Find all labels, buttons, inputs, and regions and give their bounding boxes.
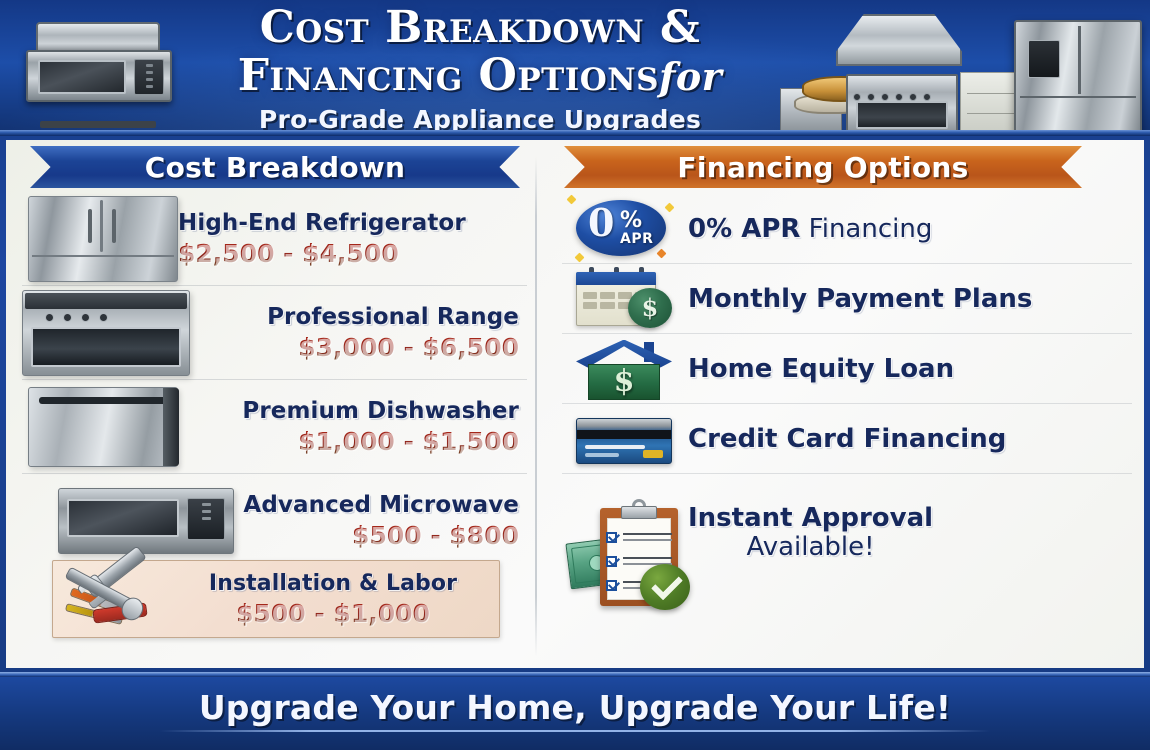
- refrigerator-icon: [22, 196, 178, 282]
- title-line-1: Cost Breakdown &: [170, 6, 790, 50]
- footer-banner: Upgrade Your Home, Upgrade Your Life!: [0, 672, 1150, 750]
- cost-text-microwave: Advanced Microwave $500 - $800: [234, 492, 527, 550]
- financing-label-light: Financing: [800, 214, 932, 244]
- content-area: Cost Breakdown High-End Refrigerator $2,…: [6, 140, 1144, 668]
- cost-text-range: Professional Range $3,000 - $6,500: [190, 304, 527, 362]
- water-dispenser: [1028, 40, 1060, 78]
- tools-wrench-screwdriver-icon: [53, 562, 181, 636]
- installation-label: Installation & Labor: [181, 571, 485, 596]
- financing-row-instant-approval: Instant Approval Available!: [562, 474, 1132, 592]
- header-bottom-rule: [0, 130, 1150, 136]
- microwave-icon: [22, 488, 234, 554]
- cost-row-refrigerator: High-End Refrigerator $2,500 - $4,500: [22, 192, 527, 286]
- calendar-dollar-symbol: $: [628, 288, 672, 328]
- instant-approval-line-1: Instant Approval: [688, 503, 933, 533]
- cost-item-name: High-End Refrigerator: [178, 210, 519, 236]
- instant-approval-line-2: Available!: [688, 533, 933, 562]
- oven-door: [856, 101, 948, 129]
- cost-row-dishwasher: Premium Dishwasher $1,000 - $1,500: [22, 380, 527, 474]
- apr-badge-apr: APR: [620, 231, 653, 247]
- range-knobs: [853, 86, 951, 96]
- financing-option-list: 0 % APR 0% APR Financing $ Monthly P: [562, 194, 1132, 592]
- french-door-refrigerator: [1014, 20, 1142, 136]
- financing-row-home-equity: $ Home Equity Loan: [562, 334, 1132, 404]
- home-dollar-icon: $: [562, 338, 688, 400]
- financing-label-credit-card: Credit Card Financing: [688, 424, 1006, 454]
- financing-label-apr: 0% APR Financing: [688, 214, 932, 244]
- cost-item-name: Premium Dishwasher: [178, 398, 519, 424]
- home-dollar-symbol: $: [589, 365, 659, 399]
- financing-label-instant-approval: Instant Approval Available!: [688, 504, 933, 562]
- dishwasher-icon: [22, 387, 178, 467]
- apr-badge-percent: %: [620, 208, 642, 233]
- microwave-base: [40, 121, 156, 128]
- cost-breakdown-banner: Cost Breakdown: [30, 146, 520, 188]
- range-hood: [836, 14, 962, 66]
- cost-item-price: $500 - $800: [234, 521, 519, 550]
- installation-price: $500 - $1,000: [181, 599, 485, 628]
- apr-badge-zero: 0: [588, 204, 614, 242]
- financing-label-monthly: Monthly Payment Plans: [688, 284, 1032, 314]
- cost-banner-label: Cost Breakdown: [145, 151, 406, 184]
- cost-item-price: $3,000 - $6,500: [190, 333, 519, 362]
- financing-label-bold: 0% APR: [688, 214, 800, 244]
- microwave-body: [26, 50, 172, 102]
- cost-item-price: $1,000 - $1,500: [178, 427, 519, 456]
- clipboard-checklist-cash-approved-icon: [562, 502, 688, 564]
- cost-row-range: Professional Range $3,000 - $6,500: [22, 286, 527, 380]
- title-line-2-italic: for: [659, 54, 722, 99]
- calendar-dollar-icon: $: [562, 268, 688, 330]
- microwave-control-panel: [134, 59, 164, 95]
- footer-underline: [160, 730, 990, 732]
- cost-text-refrigerator: High-End Refrigerator $2,500 - $4,500: [178, 210, 527, 268]
- credit-card-icon: [562, 408, 688, 470]
- cost-item-name: Advanced Microwave: [234, 492, 519, 518]
- zero-percent-apr-badge-icon: 0 % APR: [562, 198, 688, 260]
- footer-top-rule: [0, 672, 1150, 677]
- financing-row-apr: 0 % APR 0% APR Financing: [562, 194, 1132, 264]
- footer-tagline: Upgrade Your Home, Upgrade Your Life!: [0, 688, 1150, 727]
- stainless-kitchen-appliances-photo: [750, 12, 1150, 136]
- poster-title-block: Cost Breakdown & Financing Optionsfor Pr…: [170, 6, 790, 134]
- title-line-2: Financing Optionsfor: [170, 54, 790, 98]
- over-the-range-microwave-photo: [18, 14, 178, 122]
- financing-row-monthly: $ Monthly Payment Plans: [562, 264, 1132, 334]
- header-banner: Cost Breakdown & Financing Optionsfor Pr…: [0, 0, 1150, 136]
- installation-labor-highlight-box: Installation & Labor $500 - $1,000: [52, 560, 500, 638]
- cost-text-dishwasher: Premium Dishwasher $1,000 - $1,500: [178, 398, 527, 456]
- installation-text: Installation & Labor $500 - $1,000: [181, 571, 499, 628]
- cost-row-microwave: Advanced Microwave $500 - $800: [22, 474, 527, 568]
- title-line-2-main: Financing Options: [238, 50, 659, 101]
- financing-label-home-equity: Home Equity Loan: [688, 354, 954, 384]
- column-divider: [535, 156, 537, 656]
- range-oven-icon: [22, 290, 190, 376]
- infographic-poster: Cost Breakdown & Financing Optionsfor Pr…: [0, 0, 1150, 750]
- cost-item-list: High-End Refrigerator $2,500 - $4,500 Pr…: [22, 192, 527, 568]
- cost-item-price: $2,500 - $4,500: [178, 239, 519, 268]
- microwave-window: [38, 60, 126, 94]
- cost-item-name: Professional Range: [190, 304, 519, 330]
- financing-row-credit-card: Credit Card Financing: [562, 404, 1132, 474]
- financing-banner-label: Financing Options: [677, 151, 968, 184]
- professional-range: [846, 74, 958, 136]
- financing-options-banner: Financing Options: [564, 146, 1082, 188]
